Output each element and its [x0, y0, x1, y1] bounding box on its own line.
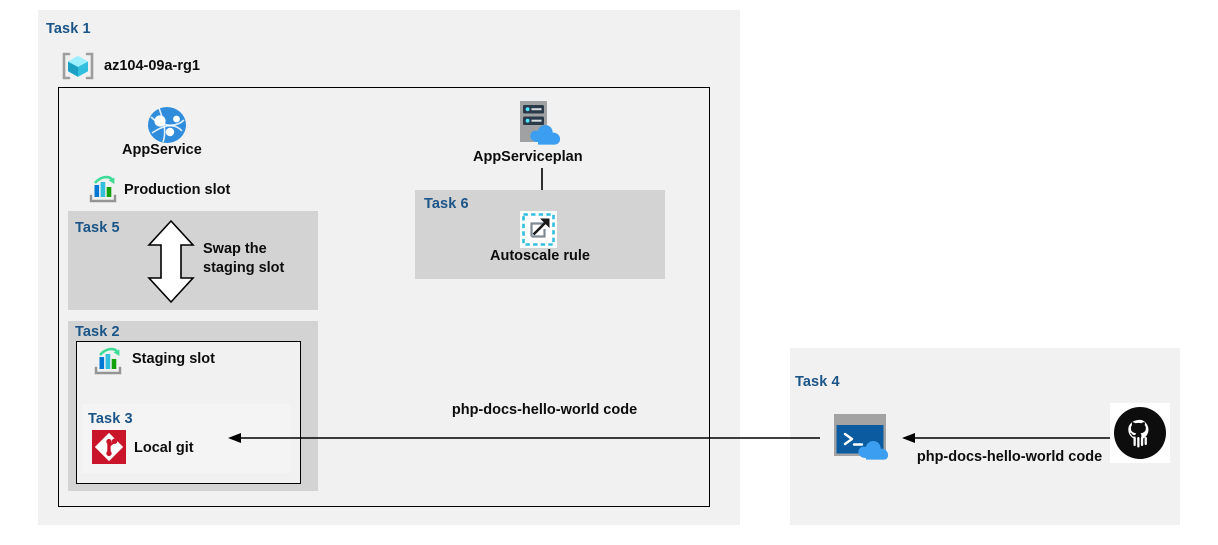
task3-label: Task 3 [88, 411, 133, 427]
app-service-plan-icon [512, 98, 570, 148]
appservice-label: AppService [122, 142, 202, 158]
code-label-center: php-docs-hello-world code [447, 401, 642, 421]
task2-label: Task 2 [75, 324, 120, 340]
diagram-canvas: Task 1 az104-09a-rg1 AppService [0, 0, 1218, 545]
edge-cloudshell-to-localgit [228, 430, 820, 446]
task4-label: Task 4 [795, 374, 840, 390]
task5-label: Task 5 [75, 220, 120, 236]
double-arrow-vertical-icon [145, 219, 197, 304]
task6-label: Task 6 [424, 196, 469, 212]
github-icon [1110, 403, 1170, 463]
autoscale-icon [520, 211, 557, 248]
resource-group-name: az104-09a-rg1 [104, 58, 200, 74]
deployment-slot-icon-staging [92, 346, 124, 378]
git-icon [92, 430, 126, 464]
edge-github-to-cloudshell [902, 430, 1110, 446]
resource-group-icon [60, 48, 96, 84]
task5-text: Swap the staging slot [203, 240, 308, 278]
appserviceplan-label: AppServiceplan [473, 149, 583, 165]
code-label-task4: php-docs-hello-world code [912, 448, 1107, 468]
production-slot-label: Production slot [124, 182, 230, 198]
staging-slot-label: Staging slot [132, 351, 215, 367]
task1-label: Task 1 [46, 21, 91, 37]
deployment-slot-icon-production [87, 174, 119, 206]
local-git-label: Local git [134, 440, 194, 456]
autoscale-label: Autoscale rule [490, 248, 590, 264]
app-service-icon [145, 103, 189, 147]
cloud-shell-icon [832, 412, 898, 460]
